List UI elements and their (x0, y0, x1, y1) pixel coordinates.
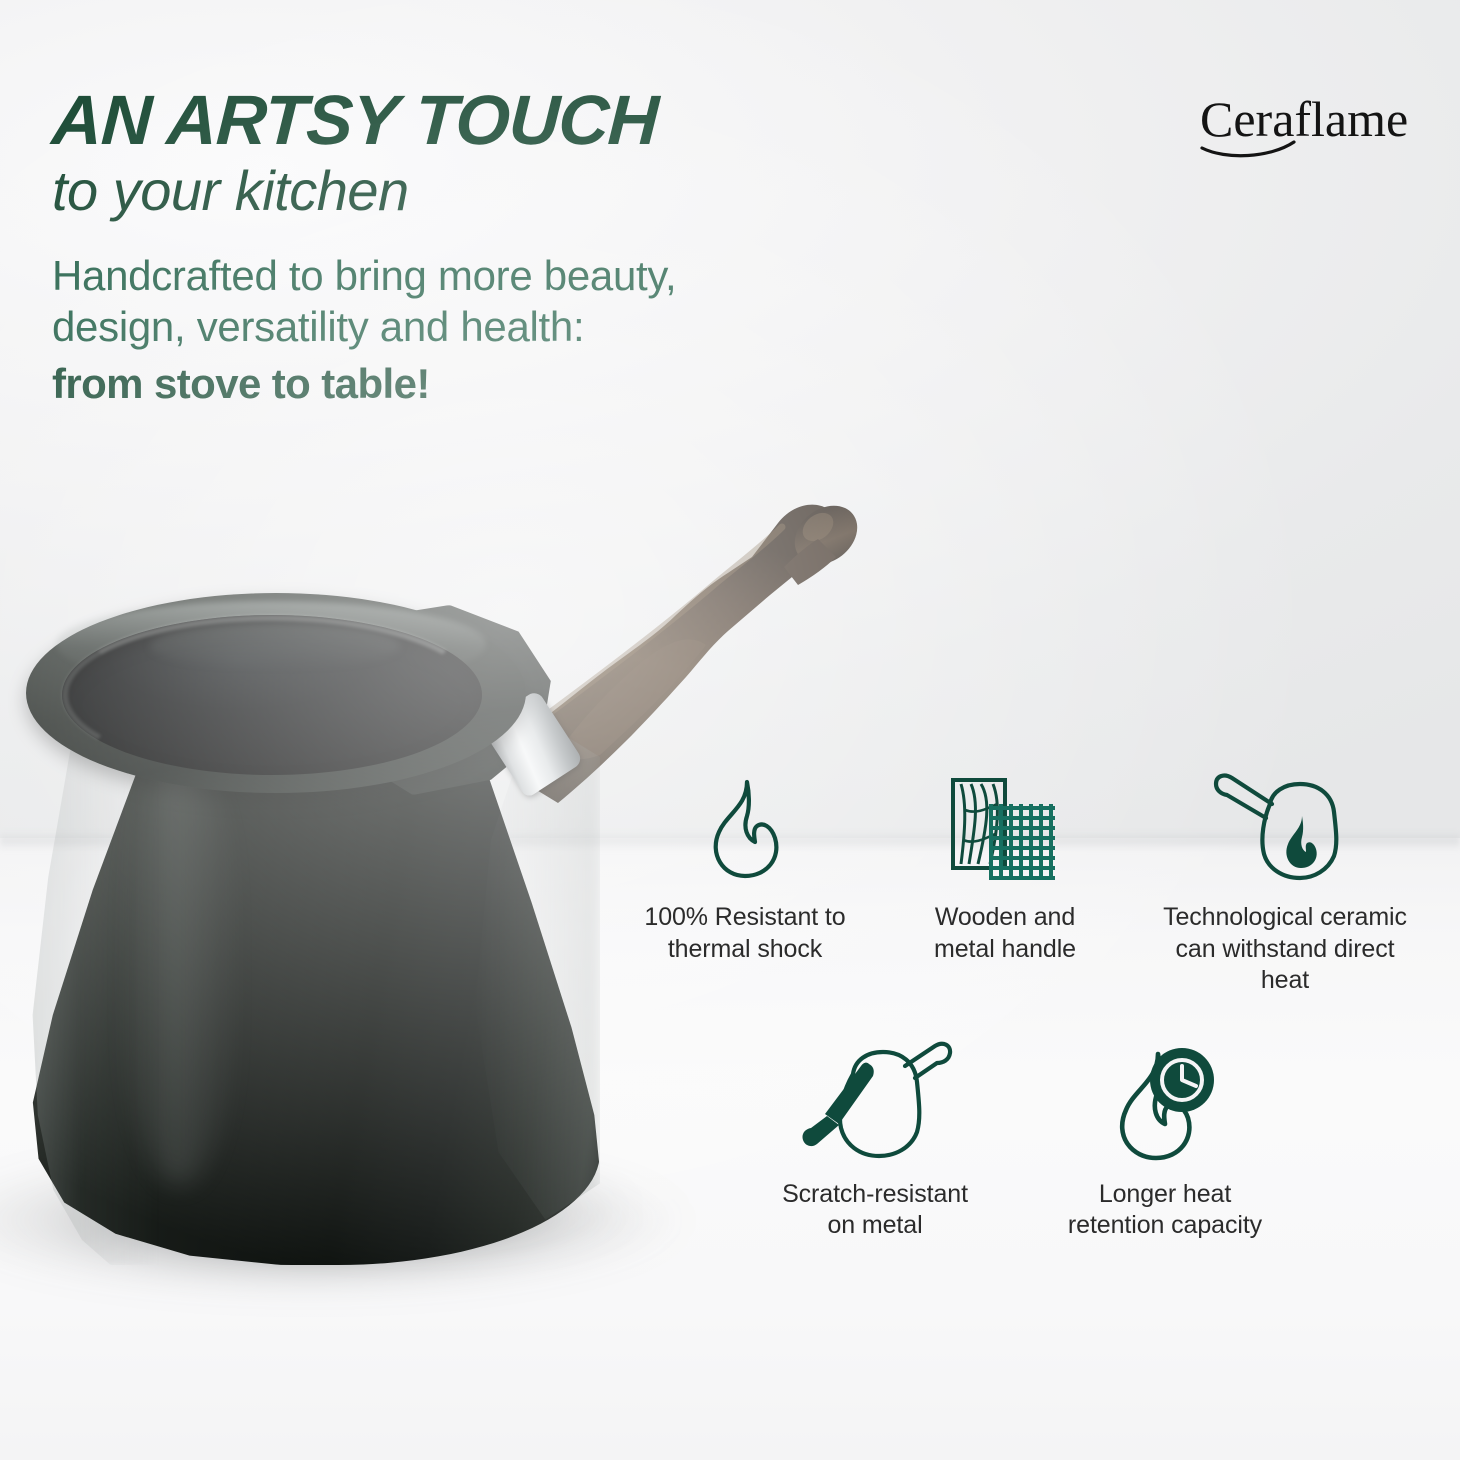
pot-with-knife-icon (795, 1040, 955, 1165)
feature-icon-wrap (945, 770, 1065, 888)
handle-highlight (536, 527, 782, 723)
handle-neck (784, 539, 836, 585)
feature-label: Wooden andmetal handle (934, 902, 1076, 965)
feature-direct-heat: Technological ceramiccan withstand direc… (1120, 770, 1450, 997)
flame-outline-icon (697, 770, 793, 888)
body-emphasis: from stove to table! (52, 358, 932, 409)
feature-wooden-metal-handle: Wooden andmetal handle (890, 770, 1120, 997)
feature-label: Longer heatretention capacity (1068, 1179, 1262, 1242)
brand-logo: Ceraflame (1196, 88, 1436, 160)
headline-body: Handcrafted to bring more beauty, design… (52, 250, 932, 410)
body-line-2: design, versatility and health: (52, 303, 584, 350)
brand-name-text: Ceraflame (1200, 91, 1408, 147)
product-marketing-poster: AN ARTSY TOUCH to your kitchen Handcraft… (0, 0, 1460, 1460)
body-line-1: Handcrafted to bring more beauty, (52, 252, 676, 299)
flame-with-clock-icon (1100, 1040, 1230, 1165)
feature-icon-wrap (795, 1047, 955, 1165)
feature-icon-wrap (1100, 1047, 1230, 1165)
feature-label: 100% Resistant tothermal shock (644, 902, 845, 965)
handle-knob (783, 494, 869, 577)
feature-heat-retention: Longer heatretention capacity (1020, 1047, 1310, 1242)
feature-row-2: Scratch-resistanton metal Longer heatret… (600, 1047, 1460, 1242)
handle-knob-highlight (797, 507, 839, 547)
pot-inner-sheen (150, 623, 400, 669)
feature-label: Scratch-resistanton metal (782, 1179, 968, 1242)
wood-grain-and-mesh-icon (945, 770, 1065, 888)
feature-row-1: 100% Resistant tothermal shock (600, 770, 1460, 997)
feature-scratch-resistant: Scratch-resistanton metal (730, 1047, 1020, 1242)
ceraflame-logo-svg: Ceraflame (1196, 88, 1436, 160)
feature-label: Technological ceramiccan withstand direc… (1163, 902, 1407, 997)
headline-block: AN ARTSY TOUCH to your kitchen Handcraft… (52, 86, 932, 410)
headline-secondary: to your kitchen (52, 161, 932, 220)
feature-icon-wrap (697, 770, 793, 888)
pot-body-sheen (120, 755, 240, 1185)
handle-swell (556, 639, 706, 759)
feature-thermal-shock: 100% Resistant tothermal shock (600, 770, 890, 997)
feature-icon-wrap (1210, 770, 1360, 888)
feature-grid: 100% Resistant tothermal shock (600, 770, 1460, 1330)
headline-primary: AN ARTSY TOUCH (50, 86, 934, 155)
pot-with-flame-icon (1210, 770, 1360, 888)
